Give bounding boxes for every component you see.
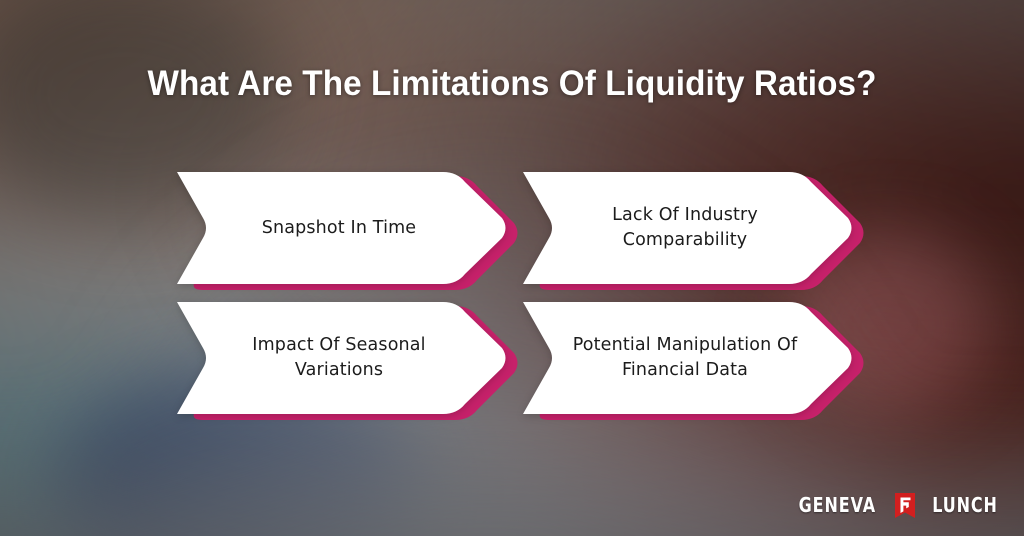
banner-lack-of-industry-comparability[interactable]: Lack Of Industry Comparability bbox=[523, 166, 867, 284]
banner-snapshot-in-time[interactable]: Snapshot In Time bbox=[177, 166, 521, 284]
site-logo[interactable]: GENEVA LUNCH bbox=[789, 492, 1006, 518]
logo-word-lunch: LUNCH bbox=[932, 493, 998, 517]
geneva-g-mark-icon bbox=[893, 493, 917, 518]
banner-label: Lack Of Industry Comparability bbox=[553, 172, 817, 284]
page-title: What Are The Limitations Of Liquidity Ra… bbox=[26, 64, 999, 104]
banner-label: Snapshot In Time bbox=[207, 172, 471, 284]
infographic-canvas: What Are The Limitations Of Liquidity Ra… bbox=[0, 0, 1024, 536]
banner-impact-of-seasonal-variations[interactable]: Impact Of Seasonal Variations bbox=[177, 296, 521, 414]
logo-word-geneva: GENEVA bbox=[799, 493, 876, 517]
banner-label: Impact Of Seasonal Variations bbox=[207, 302, 471, 414]
banner-potential-manipulation-of-financial-data[interactable]: Potential Manipulation Of Financial Data bbox=[523, 296, 867, 414]
limitations-grid: Snapshot In Time Lack Of Industry Compar… bbox=[177, 166, 867, 418]
banner-label: Potential Manipulation Of Financial Data bbox=[553, 302, 817, 414]
